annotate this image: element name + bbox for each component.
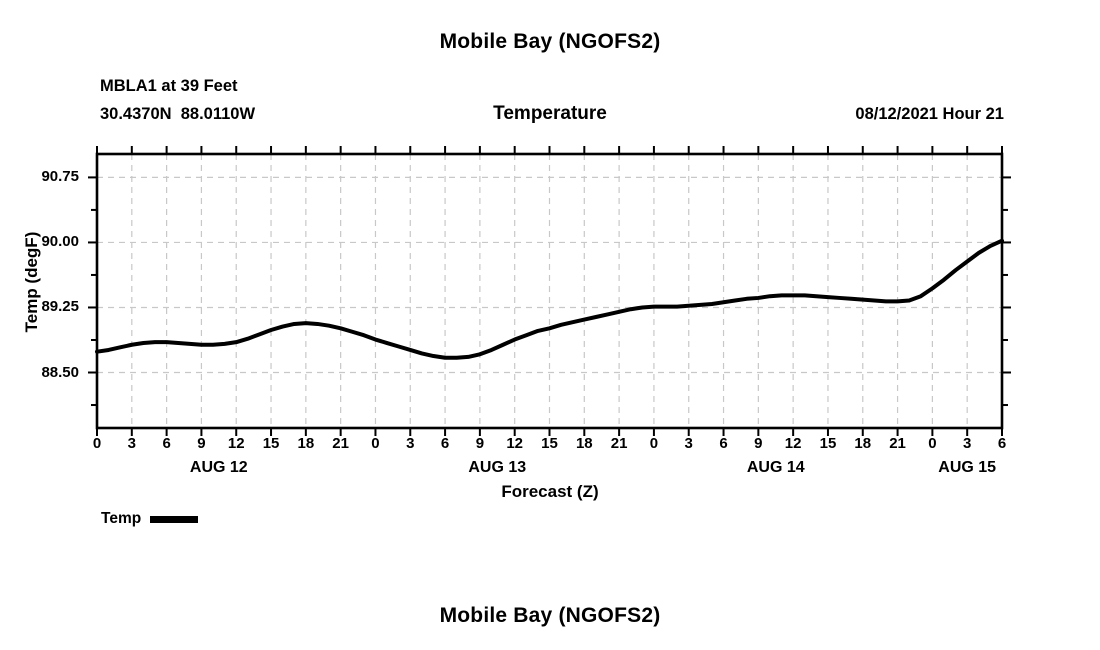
day-label: AUG 13 — [437, 459, 557, 477]
y-tick-label: 89.25 — [9, 298, 79, 315]
x-tick-label: 21 — [883, 435, 913, 452]
x-tick-label: 15 — [256, 435, 286, 452]
legend: Temp — [101, 510, 198, 528]
chart-page: Mobile Bay (NGOFS2) MBLA1 at 39 Feet 30.… — [0, 0, 1100, 650]
x-tick-label: 0 — [639, 435, 669, 452]
x-tick-label: 3 — [674, 435, 704, 452]
x-tick-label: 6 — [709, 435, 739, 452]
x-tick-label: 0 — [82, 435, 112, 452]
x-tick-label: 6 — [987, 435, 1017, 452]
footer-title: Mobile Bay (NGOFS2) — [0, 604, 1100, 628]
x-tick-label: 0 — [917, 435, 947, 452]
y-tick-label: 90.00 — [9, 233, 79, 250]
x-tick-label: 12 — [221, 435, 251, 452]
x-tick-label: 6 — [152, 435, 182, 452]
legend-label: Temp — [101, 510, 141, 528]
x-tick-label: 6 — [430, 435, 460, 452]
x-tick-label: 9 — [465, 435, 495, 452]
x-tick-label: 21 — [326, 435, 356, 452]
x-tick-label: 3 — [952, 435, 982, 452]
timeseries-plot — [0, 0, 1100, 650]
x-tick-label: 3 — [117, 435, 147, 452]
x-tick-label: 9 — [186, 435, 216, 452]
day-label: AUG 14 — [716, 459, 836, 477]
day-label: AUG 15 — [907, 459, 1027, 477]
x-tick-label: 15 — [813, 435, 843, 452]
x-tick-label: 9 — [743, 435, 773, 452]
day-label: AUG 12 — [159, 459, 279, 477]
x-tick-label: 18 — [569, 435, 599, 452]
legend-line-swatch — [150, 516, 198, 523]
x-tick-label: 18 — [848, 435, 878, 452]
x-tick-label: 12 — [778, 435, 808, 452]
x-tick-label: 0 — [360, 435, 390, 452]
y-tick-label: 88.50 — [9, 364, 79, 381]
x-tick-label: 3 — [395, 435, 425, 452]
x-tick-label: 21 — [604, 435, 634, 452]
x-tick-label: 18 — [291, 435, 321, 452]
x-tick-label: 12 — [500, 435, 530, 452]
y-tick-label: 90.75 — [9, 168, 79, 185]
x-tick-label: 15 — [535, 435, 565, 452]
plot-area — [0, 0, 1100, 650]
